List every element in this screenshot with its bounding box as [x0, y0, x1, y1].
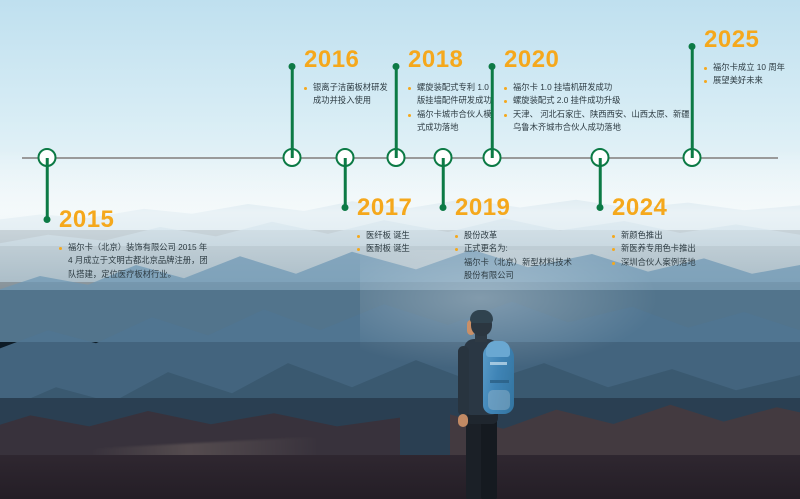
timeline-entry-2017[interactable]: 2017医纤板 诞生医耐板 诞生 — [357, 196, 412, 256]
timeline-entry-2016[interactable]: 2016银离子洁菌板材研发成功并投入使用 — [304, 48, 388, 108]
timeline-bullet-2017-1: 医耐板 诞生 — [357, 242, 412, 255]
timeline-year-label-2025: 2025 — [704, 28, 785, 52]
bullet-dot-icon — [455, 235, 458, 238]
bullet-dot-icon — [704, 80, 707, 83]
timeline-bullet-2020-1: 螺旋装配式 2.0 挂件成功升级 — [504, 94, 690, 107]
timeline-bullets-2015: 福尔卡（北京）装饰有限公司 2015 年4 月成立于文明古都北京品牌注册，团队搭… — [59, 241, 208, 281]
timeline-stem-dot-2016 — [289, 63, 296, 70]
timeline-year-label-2017: 2017 — [357, 196, 412, 220]
timeline-stem-dot-2025 — [689, 43, 696, 50]
bullet-dot-icon — [504, 114, 507, 117]
timeline-year-label-2016: 2016 — [304, 48, 388, 72]
bullet-dot-icon — [357, 248, 360, 251]
hiker-backpack-strap-upper — [490, 362, 507, 365]
timeline-stem-2016 — [291, 66, 294, 158]
timeline-stem-2024 — [599, 158, 602, 208]
hiker-backpack-lid — [486, 341, 510, 357]
bullet-dot-icon — [504, 87, 507, 90]
bullet-dot-icon — [408, 87, 411, 90]
timeline-bullets-2017: 医纤板 诞生医耐板 诞生 — [357, 229, 412, 256]
hiker-hair — [470, 310, 493, 323]
timeline-bullet-cont-2019-1-1: 福尔卡（北京）新型材料技术 — [455, 256, 572, 269]
timeline-year-label-2019: 2019 — [455, 196, 572, 220]
bullet-dot-icon — [612, 262, 615, 265]
timeline-bullets-2025: 福尔卡成立 10 周年展望美好未来 — [704, 61, 785, 88]
timeline-entry-2019[interactable]: 2019股份改革正式更名为:福尔卡（北京）新型材料技术股份有限公司 — [455, 196, 572, 283]
timeline-bullets-2024: 新颜色推出新医养专用色卡推出深圳合伙人案例落地 — [612, 229, 696, 269]
timeline-bullet-cont-2020-2-1: 乌鲁木齐城市合伙人成功落地 — [504, 121, 690, 134]
hiker-figure — [440, 310, 550, 499]
timeline-year-label-2020: 2020 — [504, 48, 690, 72]
bullet-dot-icon — [357, 235, 360, 238]
bullet-dot-icon — [455, 248, 458, 251]
bullet-dot-icon — [612, 235, 615, 238]
timeline-bullet-2024-2: 深圳合伙人案例落地 — [612, 256, 696, 269]
hiker-hand — [458, 414, 468, 427]
foreground-summit — [0, 455, 800, 499]
timeline-stem-2025 — [691, 46, 694, 158]
timeline-stem-dot-2019 — [440, 204, 447, 211]
timeline-stem-dot-2020 — [489, 63, 496, 70]
timeline-bullet-2024-1: 新医养专用色卡推出 — [612, 242, 696, 255]
bullet-dot-icon — [408, 114, 411, 117]
timeline-bullet-cont-2018-0-1: 版挂墙配件研发成功 — [408, 94, 492, 107]
timeline-bullet-2025-1: 展望美好未来 — [704, 74, 785, 87]
hiker-backpack-strap-lower — [490, 380, 509, 383]
bullet-dot-icon — [59, 247, 62, 250]
timeline-stem-2020 — [491, 66, 494, 158]
timeline-stem-dot-2018 — [393, 63, 400, 70]
timeline-bullets-2020: 福尔卡 1.0 挂墙机研发成功螺旋装配式 2.0 挂件成功升级天津、 河北石家庄… — [504, 81, 690, 135]
timeline-bullet-2018-1: 福尔卡城市合伙人模 — [408, 108, 492, 121]
timeline-bullet-2017-0: 医纤板 诞生 — [357, 229, 412, 242]
hiker-arm — [458, 346, 469, 416]
timeline-bullet-2019-0: 股份改革 — [455, 229, 572, 242]
timeline-bullet-cont-2016-0-1: 成功并投入使用 — [304, 94, 388, 107]
timeline-stem-dot-2024 — [597, 204, 604, 211]
timeline-year-label-2015: 2015 — [59, 208, 208, 232]
timeline-year-label-2024: 2024 — [612, 196, 696, 220]
timeline-entry-2020[interactable]: 2020福尔卡 1.0 挂墙机研发成功螺旋装配式 2.0 挂件成功升级天津、 河… — [504, 48, 690, 135]
timeline-bullets-2019: 股份改革正式更名为:福尔卡（北京）新型材料技术股份有限公司 — [455, 229, 572, 283]
timeline-bullet-cont-2015-0-2: 队搭建，定位医疗板材行业。 — [59, 268, 208, 281]
timeline-bullet-2020-2: 天津、 河北石家庄、陕西西安、山西太原、新疆 — [504, 108, 690, 121]
timeline-stem-dot-2017 — [342, 204, 349, 211]
timeline-bullets-2018: 螺旋装配式专利 1.0版挂墙配件研发成功福尔卡城市合伙人模式成功落地 — [408, 81, 492, 135]
timeline-bullet-2020-0: 福尔卡 1.0 挂墙机研发成功 — [504, 81, 690, 94]
bullet-dot-icon — [704, 67, 707, 70]
timeline-stem-2018 — [395, 66, 398, 158]
timeline-infographic: 2015福尔卡（北京）装饰有限公司 2015 年4 月成立于文明古都北京品牌注册… — [0, 0, 800, 499]
timeline-stem-2017 — [344, 158, 347, 208]
timeline-entry-2018[interactable]: 2018螺旋装配式专利 1.0版挂墙配件研发成功福尔卡城市合伙人模式成功落地 — [408, 48, 492, 135]
timeline-stem-dot-2015 — [44, 216, 51, 223]
timeline-entry-2025[interactable]: 2025福尔卡成立 10 周年展望美好未来 — [704, 28, 785, 88]
timeline-bullet-cont-2015-0-1: 4 月成立于文明古都北京品牌注册，团 — [59, 254, 208, 267]
hiker-backpack-pocket — [488, 390, 510, 410]
timeline-entry-2024[interactable]: 2024新颜色推出新医养专用色卡推出深圳合伙人案例落地 — [612, 196, 696, 269]
bullet-dot-icon — [504, 100, 507, 103]
bullet-dot-icon — [612, 248, 615, 251]
timeline-stem-2015 — [46, 158, 49, 220]
timeline-bullet-2016-0: 银离子洁菌板材研发 — [304, 81, 388, 94]
timeline-bullets-2016: 银离子洁菌板材研发成功并投入使用 — [304, 81, 388, 108]
timeline-bullet-cont-2019-1-2: 股份有限公司 — [455, 269, 572, 282]
timeline-bullet-2025-0: 福尔卡成立 10 周年 — [704, 61, 785, 74]
timeline-bullet-2024-0: 新颜色推出 — [612, 229, 696, 242]
timeline-year-label-2018: 2018 — [408, 48, 492, 72]
bullet-dot-icon — [304, 87, 307, 90]
timeline-bullet-2019-1: 正式更名为: — [455, 242, 572, 255]
timeline-bullet-cont-2018-1-1: 式成功落地 — [408, 121, 492, 134]
timeline-bullet-2018-0: 螺旋装配式专利 1.0 — [408, 81, 492, 94]
timeline-stem-2019 — [442, 158, 445, 208]
timeline-entry-2015[interactable]: 2015福尔卡（北京）装饰有限公司 2015 年4 月成立于文明古都北京品牌注册… — [59, 208, 208, 281]
timeline-bullet-2015-0: 福尔卡（北京）装饰有限公司 2015 年 — [59, 241, 208, 254]
